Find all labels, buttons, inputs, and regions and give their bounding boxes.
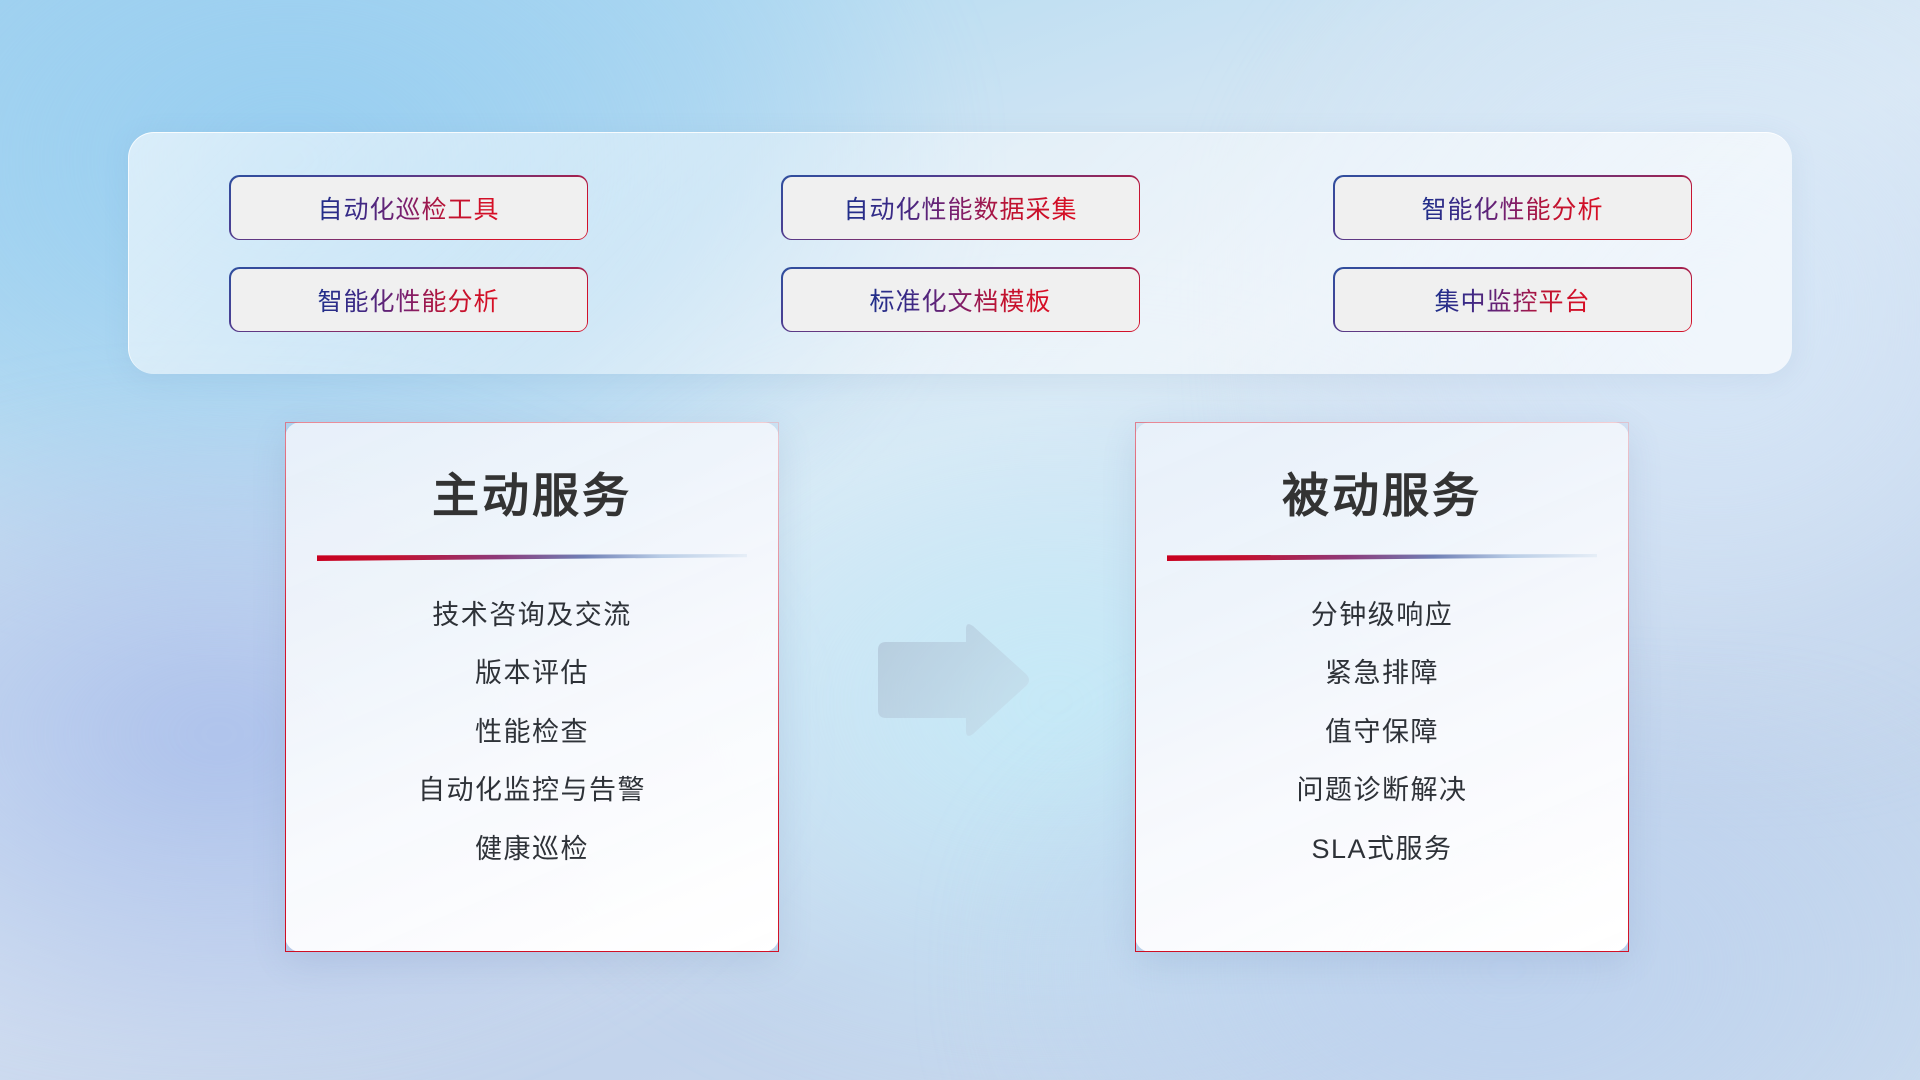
capability-tag-grid: 自动化巡检工具 自动化性能数据采集 智能化性能分析 智能化性能分析 标准化文档模… xyxy=(231,177,1691,331)
list-item: 性能检查 xyxy=(475,716,589,748)
reactive-card-divider xyxy=(1167,554,1597,561)
capability-tag[interactable]: 自动化性能数据采集 xyxy=(783,177,1139,239)
list-item: 值守保障 xyxy=(1325,716,1439,748)
capability-tag[interactable]: 智能化性能分析 xyxy=(1335,177,1691,239)
proactive-card-list: 技术咨询及交流 版本评估 性能检查 自动化监控与告警 健康巡检 xyxy=(286,599,778,865)
list-item: 技术咨询及交流 xyxy=(432,599,632,631)
capability-tag[interactable]: 标准化文档模板 xyxy=(783,269,1139,331)
list-item: 问题诊断解决 xyxy=(1297,774,1468,806)
reactive-card-title: 被动服务 xyxy=(1136,457,1628,526)
capability-tag-label: 自动化巡检工具 xyxy=(317,190,499,226)
capability-tag-label: 自动化性能数据采集 xyxy=(843,190,1077,226)
flow-arrow-right-icon xyxy=(874,622,1032,740)
list-item: 版本评估 xyxy=(475,657,589,689)
proactive-card-title: 主动服务 xyxy=(286,457,778,526)
reactive-service-card: 被动服务 分钟级响应 紧急排障 值守保障 问题诊断解决 SLA式服务 xyxy=(1135,422,1629,952)
proactive-service-card: 主动服务 技术咨询及交流 版本评估 性能检查 自动化监控与告警 健康巡检 xyxy=(285,422,779,952)
capability-tag-label: 标准化文档模板 xyxy=(869,282,1051,318)
capability-tag-label: 智能化性能分析 xyxy=(1421,190,1603,226)
capability-tag[interactable]: 智能化性能分析 xyxy=(231,269,587,331)
reactive-card-list: 分钟级响应 紧急排障 值守保障 问题诊断解决 SLA式服务 xyxy=(1136,599,1628,865)
list-item: 健康巡检 xyxy=(475,833,589,865)
capability-panel: 自动化巡检工具 自动化性能数据采集 智能化性能分析 智能化性能分析 标准化文档模… xyxy=(128,132,1792,374)
list-item: SLA式服务 xyxy=(1311,833,1452,865)
list-item: 紧急排障 xyxy=(1325,657,1439,689)
list-item: 自动化监控与告警 xyxy=(418,774,646,806)
capability-tag-label: 集中监控平台 xyxy=(1434,282,1590,318)
proactive-card-divider xyxy=(317,554,747,561)
list-item: 分钟级响应 xyxy=(1311,599,1454,631)
capability-tag-label: 智能化性能分析 xyxy=(317,282,499,318)
capability-tag[interactable]: 集中监控平台 xyxy=(1335,269,1691,331)
capability-tag[interactable]: 自动化巡检工具 xyxy=(231,177,587,239)
